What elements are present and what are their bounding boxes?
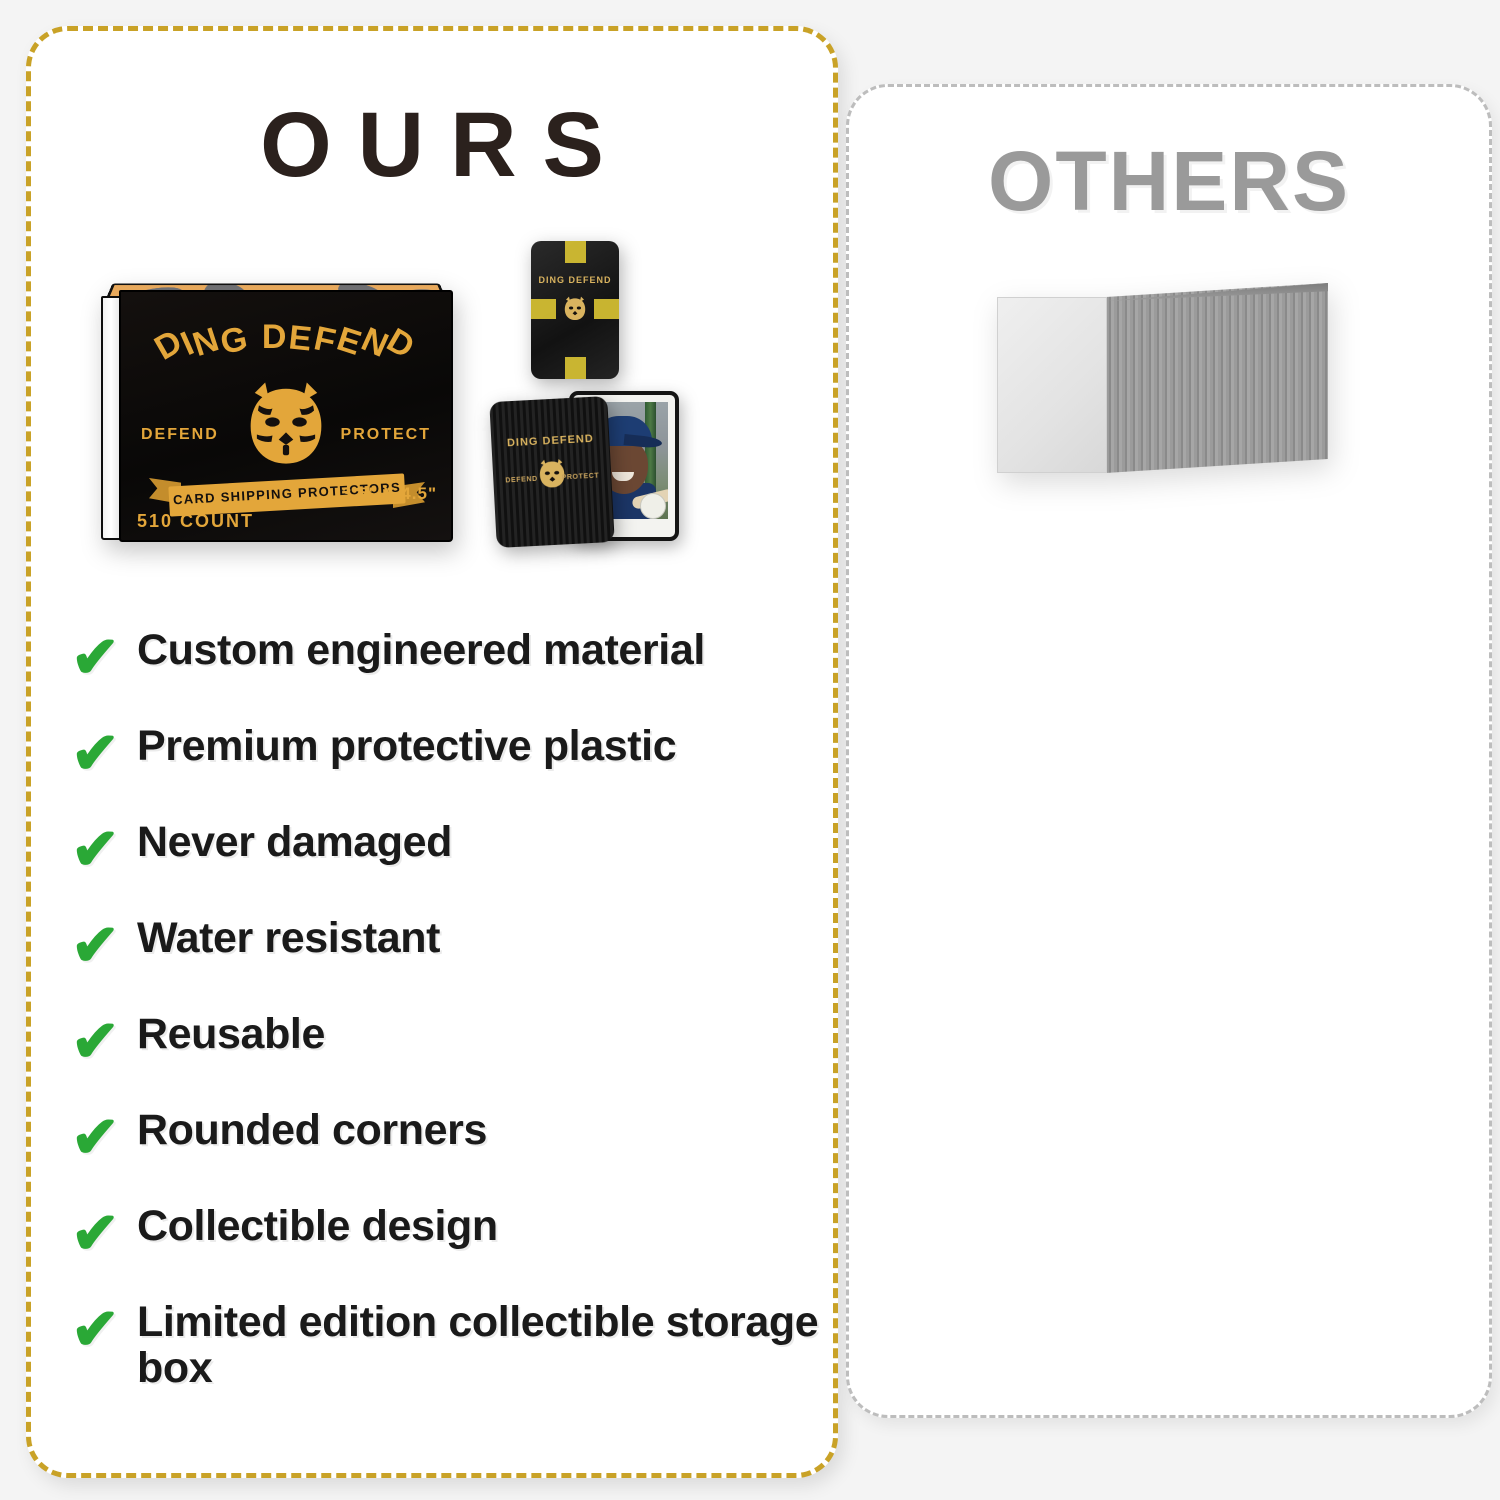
green-check-icon: ✔	[71, 821, 137, 879]
product-box: DING DEFEND	[93, 256, 463, 556]
feature-label: Limited edition collectible storage box	[137, 1299, 861, 1392]
box-count-label: 510 COUNT	[137, 511, 254, 532]
cardboard-stack-icon	[997, 283, 1327, 483]
card-protector-single: DING DEFEND	[531, 241, 619, 379]
box-brand-name: DING DEFEND	[121, 318, 451, 357]
green-check-icon: ✔	[71, 1013, 137, 1071]
feature-label: Collectible design	[137, 1203, 498, 1249]
green-check-icon: ✔	[71, 917, 137, 975]
list-item: ✔ Water resistant	[71, 915, 861, 1011]
others-product-image	[849, 267, 1495, 527]
list-item: ✔ Reusable	[71, 1011, 861, 1107]
green-check-icon: ✔	[71, 725, 137, 783]
list-item: ✔ Never damaged	[71, 819, 861, 915]
box-left-word: DEFEND	[141, 426, 219, 444]
feature-label: Reusable	[137, 1011, 325, 1057]
others-panel: OTHERS ✖ Stock material ✖ Normal cardboa…	[846, 84, 1492, 1418]
green-check-icon: ✔	[71, 1301, 137, 1359]
list-item: ✔ Premium protective plastic	[71, 723, 861, 819]
list-item: ✔ Rounded corners	[71, 1107, 861, 1203]
feature-label: Rounded corners	[137, 1107, 487, 1153]
protector-right-word: PROTECT	[561, 473, 599, 482]
comparison-infographic: OURS DING DEFEND	[0, 0, 1500, 1500]
others-title: OTHERS	[849, 139, 1489, 223]
list-item: ✔ Custom engineered material	[71, 627, 861, 723]
tape-strip-bottom	[565, 357, 586, 379]
protector-brand-name: DING DEFEND	[531, 275, 619, 285]
ours-panel: OURS DING DEFEND	[26, 26, 838, 1478]
green-check-icon: ✔	[71, 1205, 137, 1263]
tape-strip-right	[594, 299, 619, 319]
tiger-head-icon	[560, 293, 590, 323]
protector-left-word: DEFEND	[505, 476, 538, 485]
feature-label: Custom engineered material	[137, 627, 705, 673]
ours-product-image: DING DEFEND	[31, 231, 843, 591]
feature-label: Never damaged	[137, 819, 452, 865]
tape-strip-left	[531, 299, 556, 319]
cardboard-stack-side	[1106, 283, 1328, 483]
tape-strip-top	[565, 241, 586, 263]
green-check-icon: ✔	[71, 1109, 137, 1167]
card-logo-badge	[640, 493, 666, 519]
green-check-icon: ✔	[71, 629, 137, 687]
tiger-head-icon	[234, 370, 338, 474]
card-protector-front: DING DEFEND DEFEND PROTECT	[489, 396, 614, 548]
ours-title: OURS	[31, 99, 833, 191]
box-front-panel: DING DEFEND	[119, 290, 453, 542]
protector-with-trading-card: DING DEFEND DEFEND PROTECT	[493, 391, 693, 551]
feature-label: Water resistant	[137, 915, 440, 961]
cardboard-stack-face	[997, 297, 1107, 473]
feature-label: Premium protective plastic	[137, 723, 676, 769]
list-item: ✔ Collectible design	[71, 1203, 861, 1299]
box-size-label: 3.5" X 4.5"	[342, 484, 437, 504]
list-item: ✔ Limited edition collectible storage bo…	[71, 1299, 861, 1395]
tiger-head-icon	[533, 454, 571, 492]
protector-brand-name: DING DEFEND	[491, 432, 609, 450]
box-right-word: PROTECT	[341, 426, 431, 444]
ours-feature-list: ✔ Custom engineered material ✔ Premium p…	[71, 627, 861, 1395]
